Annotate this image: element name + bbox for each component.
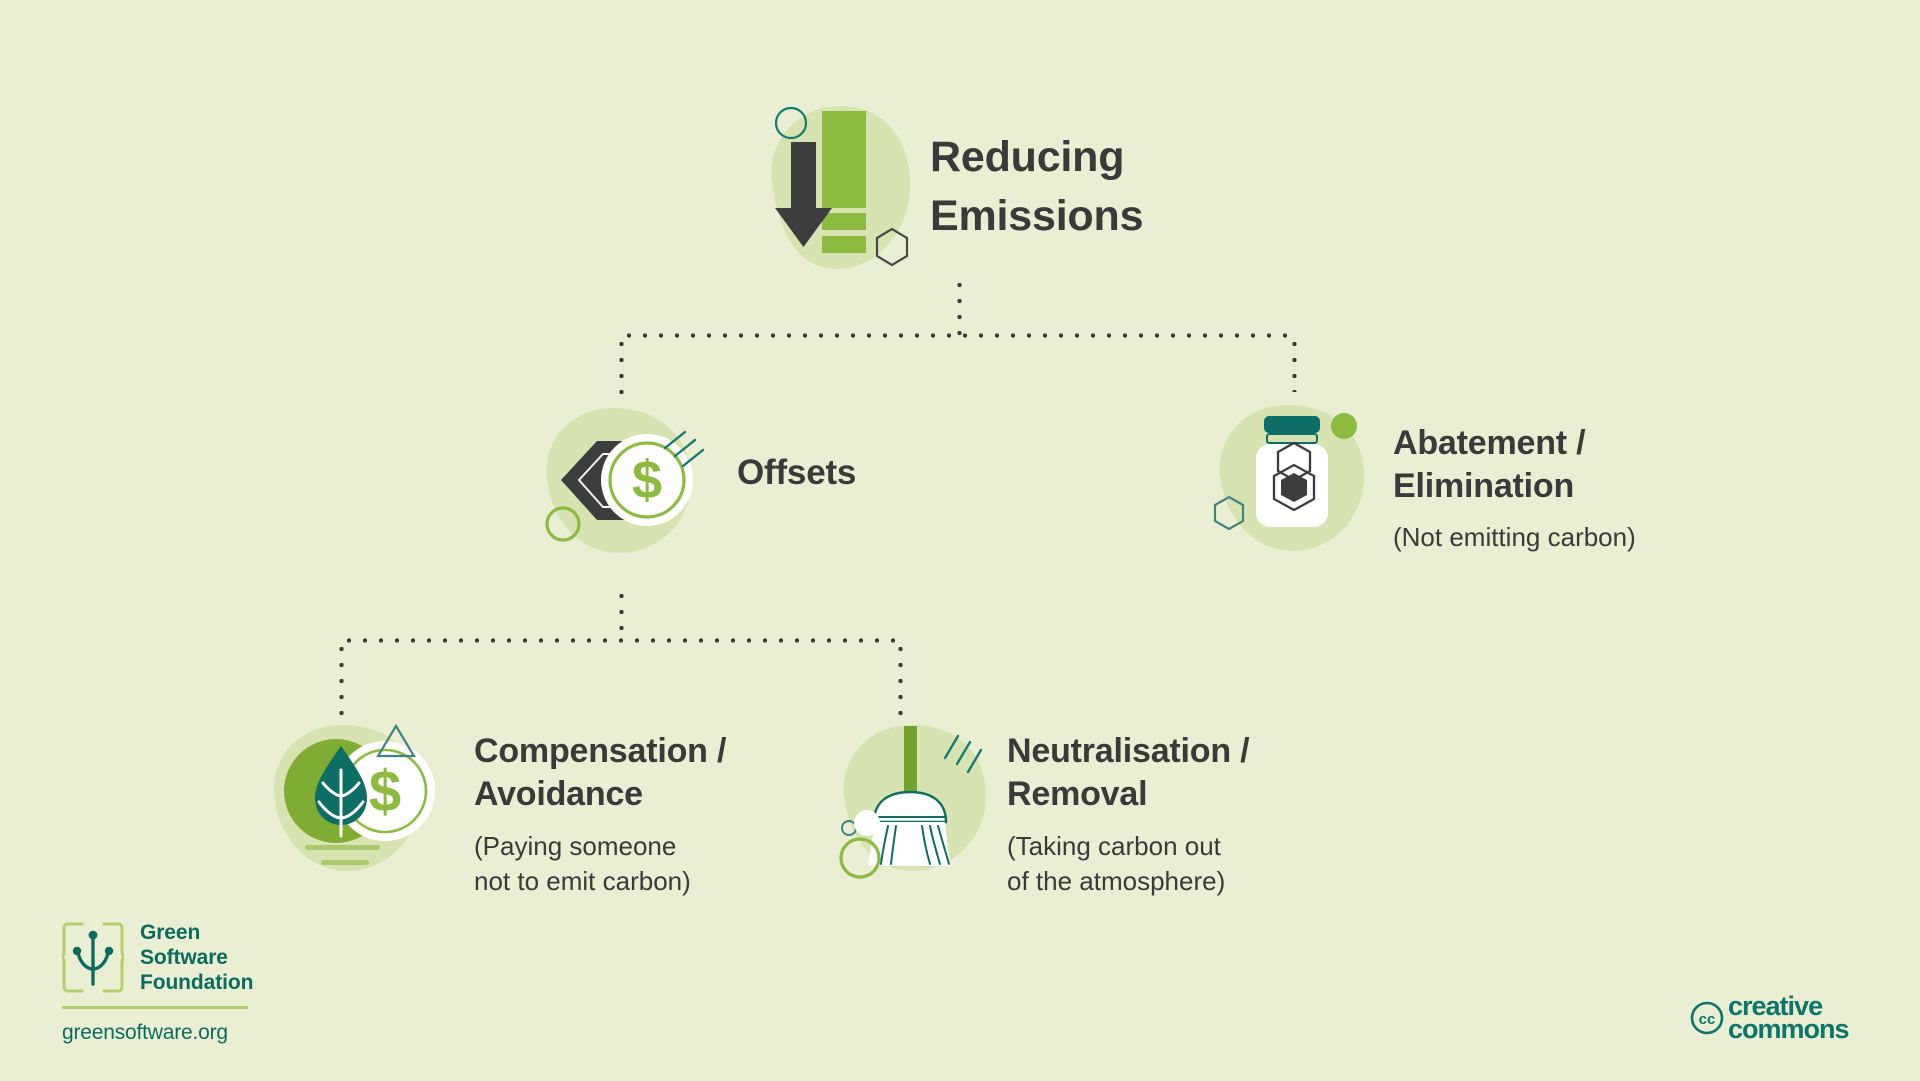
connector-to-neutralisation xyxy=(898,641,903,717)
gsf-branding[interactable]: Green Software Foundation greensoftware.… xyxy=(62,920,253,1045)
gsf-divider xyxy=(62,1006,248,1009)
node-subtitle: (Paying someone not to emit carbon) xyxy=(474,829,726,899)
creative-commons-branding[interactable]: cc creative commons xyxy=(1690,995,1849,1041)
node-offsets[interactable]: $ Offsets xyxy=(537,400,856,560)
leaf-coin-icon: $ xyxy=(268,718,448,883)
hexagon-coin-icon: $ xyxy=(537,400,707,560)
labels-compensation: Compensation / Avoidance (Paying someone… xyxy=(474,718,726,899)
gsf-name-line-1: Green xyxy=(140,921,200,944)
subtitle-line-2: of the atmosphere) xyxy=(1007,866,1225,896)
node-neutralisation-removal[interactable]: Neutralisation / Removal (Taking carbon … xyxy=(818,718,1249,899)
cc-circle-icon: cc xyxy=(1690,1001,1724,1035)
gsf-logo-row: Green Software Foundation xyxy=(62,920,253,995)
node-title: Neutralisation / Removal xyxy=(1007,730,1249,816)
icon-compensation: $ xyxy=(268,718,448,883)
node-title: Compensation / Avoidance xyxy=(474,730,726,816)
connector-to-abatement xyxy=(1292,336,1297,392)
title-line-2: Avoidance xyxy=(474,775,643,813)
subtitle-line-1: (Taking carbon out xyxy=(1007,831,1221,861)
jar-hexagon-icon xyxy=(1212,398,1377,558)
gsf-tree-bracket-icon xyxy=(62,921,124,995)
labels-abatement: Abatement / Elimination (Not emitting ca… xyxy=(1393,398,1636,554)
svg-text:$: $ xyxy=(632,450,662,510)
title-line-1: Reducing xyxy=(930,133,1124,181)
title-line-1: Neutralisation / xyxy=(1007,732,1249,770)
labels-neutralisation: Neutralisation / Removal (Taking carbon … xyxy=(1007,718,1249,899)
labels-reducing-emissions: Reducing Emissions xyxy=(930,95,1143,246)
gsf-name-line-2: Software xyxy=(140,946,228,969)
gsf-url[interactable]: greensoftware.org xyxy=(62,1021,253,1045)
connector-level1-bar xyxy=(621,333,1295,338)
cc-wordmark: creative commons xyxy=(1728,995,1849,1041)
node-abatement-elimination[interactable]: Abatement / Elimination (Not emitting ca… xyxy=(1212,398,1636,558)
title-line-1: Compensation / xyxy=(474,732,726,770)
title-line-2: Emissions xyxy=(930,192,1143,240)
down-arrow-bars-icon xyxy=(740,95,920,280)
labels-offsets: Offsets xyxy=(737,400,856,494)
node-subtitle: (Taking carbon out of the atmosphere) xyxy=(1007,829,1249,899)
icon-offsets: $ xyxy=(537,400,707,560)
connector-offsets-stem xyxy=(619,588,624,638)
node-compensation-avoidance[interactable]: $ Compensation / Avoidance (P xyxy=(268,718,726,899)
cc-line-2: commons xyxy=(1728,1014,1849,1044)
subtitle-line-2: not to emit carbon) xyxy=(474,866,691,896)
connector-to-compensation xyxy=(339,641,344,717)
icon-neutralisation xyxy=(818,718,993,883)
node-title: Abatement / Elimination xyxy=(1393,422,1636,508)
svg-text:$: $ xyxy=(369,759,401,824)
gsf-name-line-3: Foundation xyxy=(140,971,253,994)
node-subtitle: (Not emitting carbon) xyxy=(1393,520,1636,554)
icon-reducing-emissions xyxy=(740,95,920,280)
broom-icon xyxy=(818,718,993,883)
title-line-1: Abatement / xyxy=(1393,424,1585,462)
gsf-name: Green Software Foundation xyxy=(140,920,253,995)
connector-to-offsets xyxy=(619,336,624,404)
title-line-2: Elimination xyxy=(1393,467,1574,505)
node-title: Reducing Emissions xyxy=(930,128,1143,246)
connector-level2-bar xyxy=(341,638,901,643)
title-line-2: Removal xyxy=(1007,775,1147,813)
connector-root-stem xyxy=(957,277,962,337)
svg-text:cc: cc xyxy=(1699,1011,1716,1028)
node-reducing-emissions[interactable]: Reducing Emissions xyxy=(740,95,1143,280)
subtitle-line-1: (Paying someone xyxy=(474,831,676,861)
icon-abatement xyxy=(1212,398,1377,558)
diagram-canvas: Reducing Emissions $ O xyxy=(0,0,1920,1081)
node-title: Offsets xyxy=(737,452,856,494)
